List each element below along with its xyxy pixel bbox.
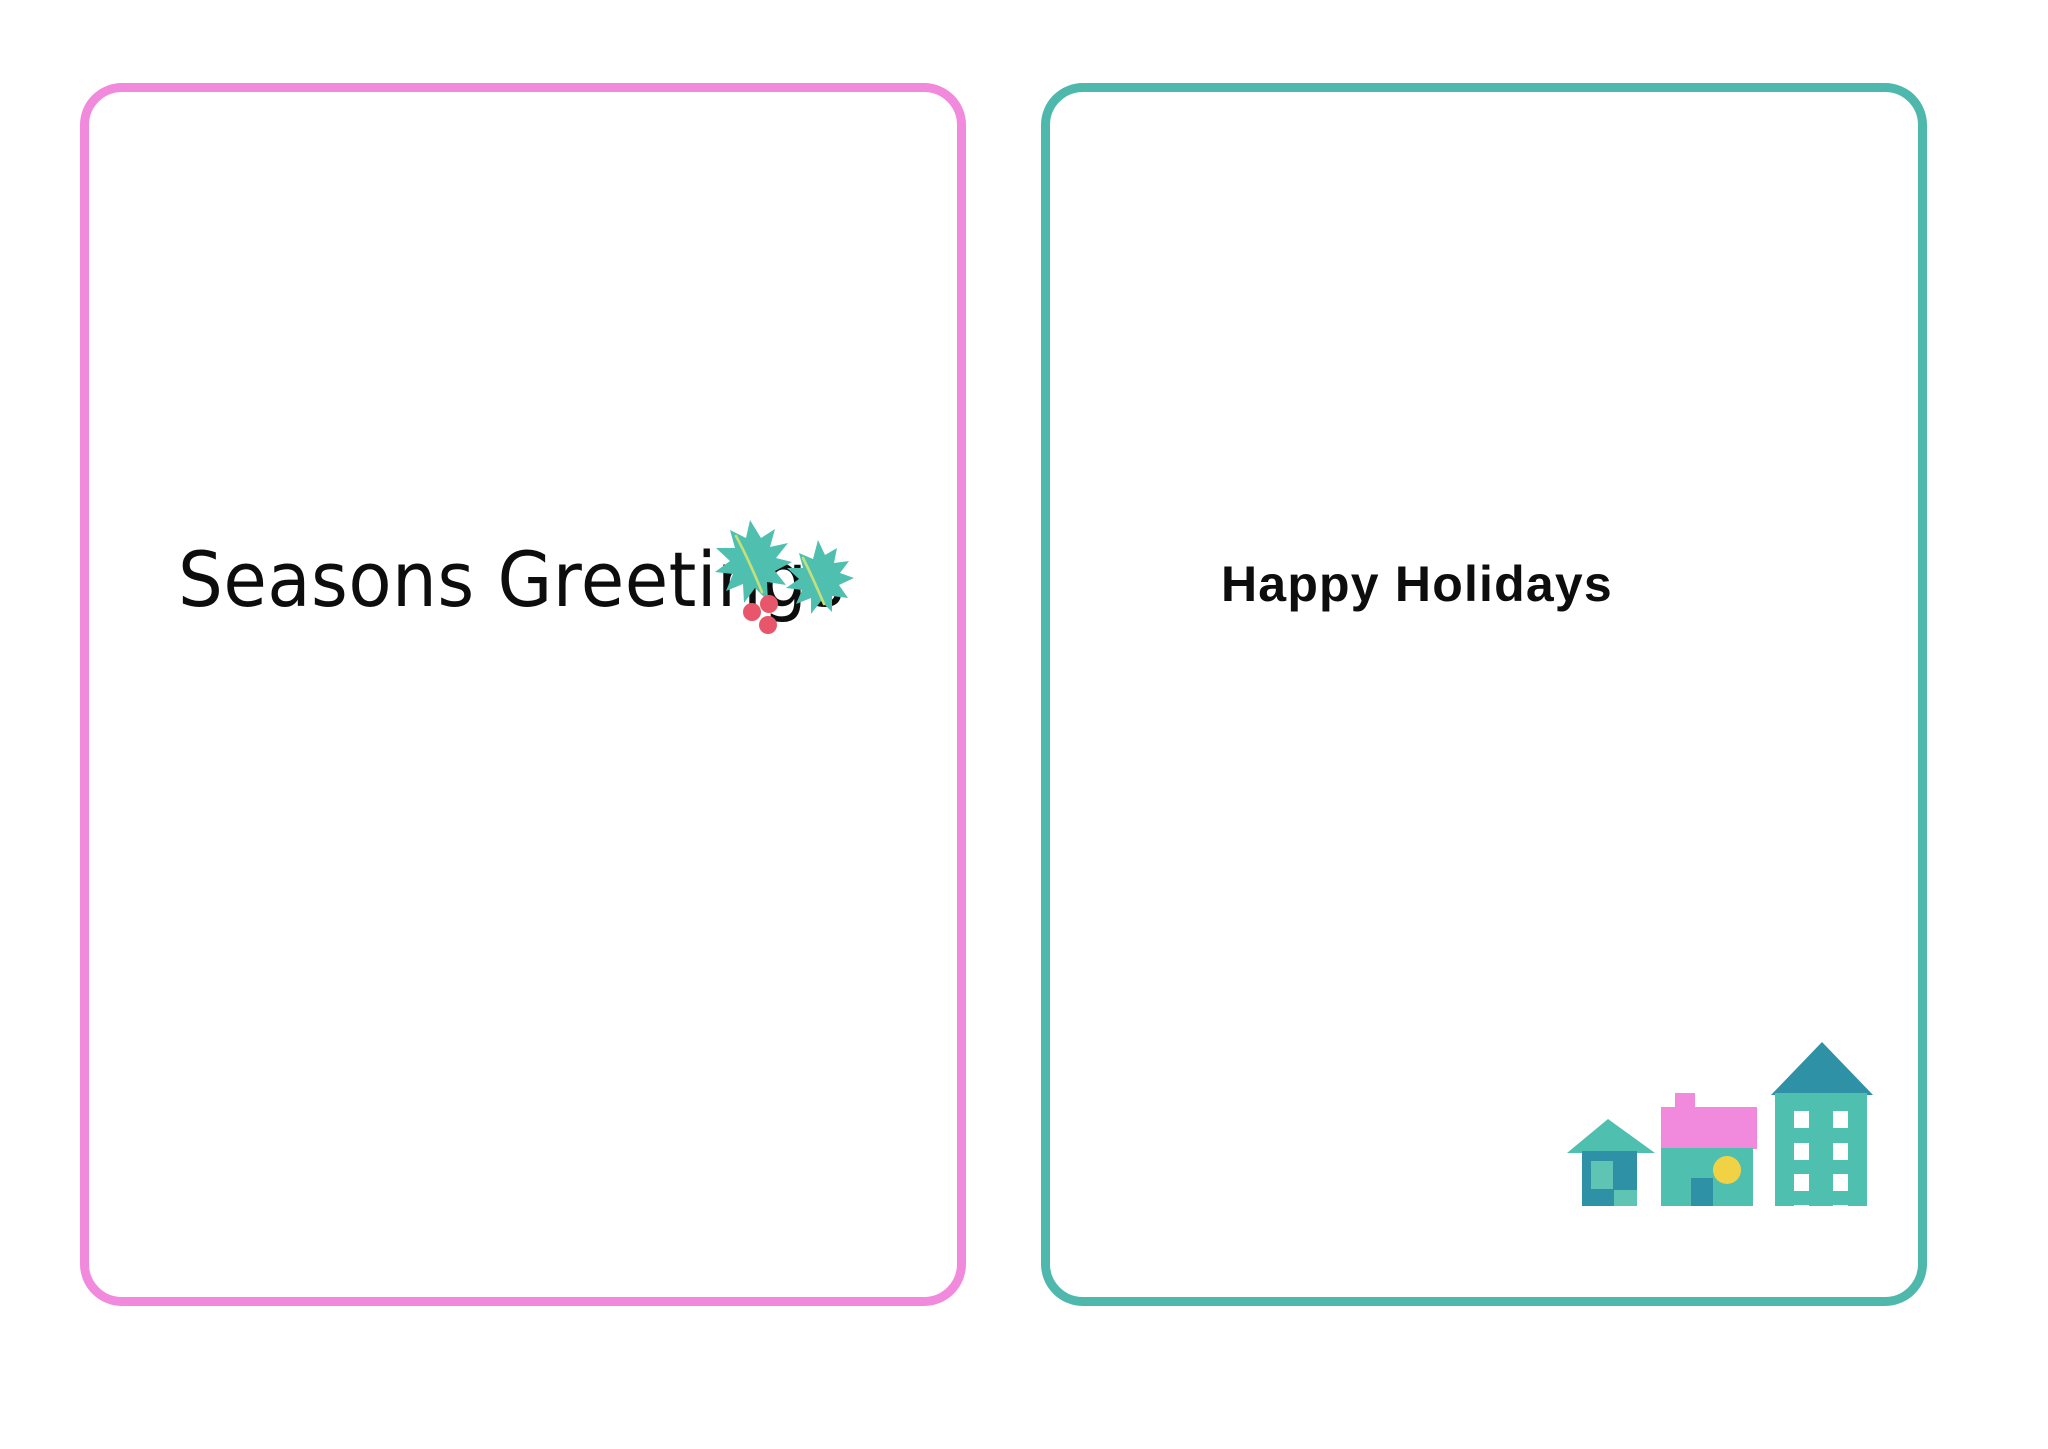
tall-building-shape bbox=[1771, 1042, 1873, 1222]
middle-house-shape bbox=[1661, 1093, 1757, 1206]
small-house-shape bbox=[1567, 1119, 1655, 1206]
greeting-card-seasons-greetings bbox=[80, 83, 966, 1306]
houses-skyline-icon bbox=[1565, 1038, 1910, 1253]
happy-holidays-heading: Happy Holidays bbox=[1221, 555, 1613, 613]
holly-sprig-icon bbox=[706, 512, 866, 642]
